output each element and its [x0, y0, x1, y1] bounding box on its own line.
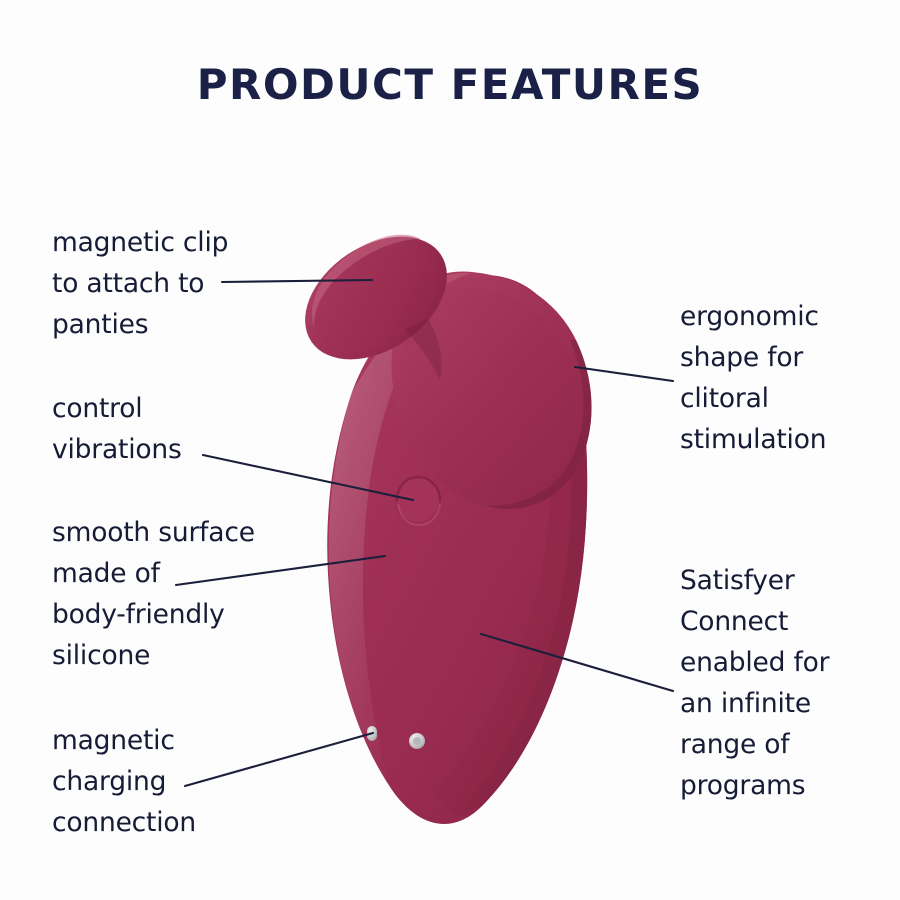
callout-line: control [52, 388, 182, 429]
callout-line: silicone [52, 635, 255, 676]
leader-magnetic-clip [222, 280, 372, 282]
callout-line: body-friendly [52, 594, 255, 635]
leader-satisfyer-connect [481, 634, 673, 691]
callout-line: stimulation [680, 419, 826, 460]
callout-line: Connect [680, 601, 829, 642]
leader-control [203, 455, 413, 500]
callout-ergonomic-shape: ergonomic shape for clitoral stimulation [680, 296, 826, 460]
callout-magnetic-charging: magnetic charging connection [52, 720, 196, 843]
callout-line: programs [680, 765, 829, 806]
leader-magnetic-charging [185, 733, 373, 786]
callout-line: connection [52, 802, 196, 843]
callout-line: ergonomic [680, 296, 826, 337]
callout-line: magnetic [52, 720, 196, 761]
leader-ergonomic-shape [575, 367, 673, 381]
callout-line: enabled for [680, 642, 829, 683]
callout-smooth-surface: smooth surface made of body-friendly sil… [52, 512, 255, 676]
callout-satisfyer-connect: Satisfyer Connect enabled for an infinit… [680, 560, 829, 806]
callout-line: to attach to [52, 263, 228, 304]
callout-line: vibrations [52, 429, 182, 470]
callout-line: clitoral [680, 378, 826, 419]
callout-line: charging [52, 761, 196, 802]
callout-line: panties [52, 304, 228, 345]
callout-line: Satisfyer [680, 560, 829, 601]
callout-magnetic-clip: magnetic clip to attach to panties [52, 222, 228, 345]
callout-line: smooth surface [52, 512, 255, 553]
callout-line: range of [680, 724, 829, 765]
callout-line: an infinite [680, 683, 829, 724]
product-features-infographic: PRODUCT FEATURES [0, 0, 900, 900]
callout-control-vibrations: control vibrations [52, 388, 182, 470]
callout-line: magnetic clip [52, 222, 228, 263]
callout-line: shape for [680, 337, 826, 378]
callout-line: made of [52, 553, 255, 594]
